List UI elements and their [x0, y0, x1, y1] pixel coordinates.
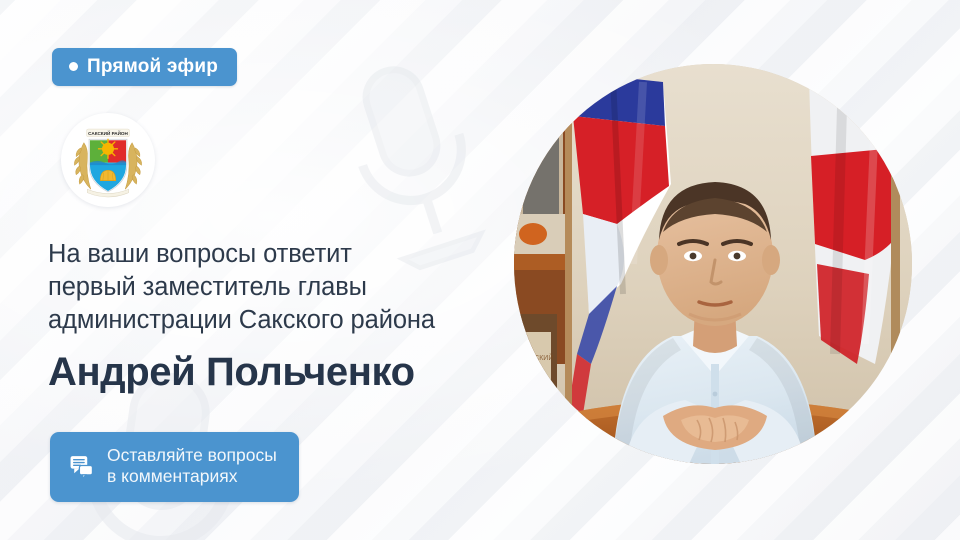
leave-questions-line-1: Оставляйте вопросы	[107, 445, 277, 466]
person-name: Андрей Польченко	[48, 350, 415, 395]
leave-questions-label: Оставляйте вопросы в комментариях	[107, 445, 277, 488]
leave-questions-button[interactable]: Оставляйте вопросы в комментариях	[50, 432, 299, 502]
chat-bubbles-icon	[69, 454, 94, 479]
live-badge[interactable]: Прямой эфир	[52, 48, 237, 86]
portrait-illustration: САКСКИЙ	[514, 64, 912, 464]
livestream-announcement-banner: Прямой эфир	[0, 0, 960, 540]
headline-line-1: На ваши вопросы ответит	[48, 238, 518, 271]
live-dot-icon	[69, 62, 78, 71]
district-emblem: САКСКИЙ РАЙОН	[61, 113, 155, 207]
speaker-portrait: САКСКИЙ	[514, 64, 912, 464]
live-badge-label: Прямой эфир	[87, 57, 218, 76]
coat-of-arms-icon: САКСКИЙ РАЙОН	[65, 117, 151, 203]
headline: На ваши вопросы ответит первый заместите…	[48, 238, 518, 337]
headline-line-2: первый заместитель главы	[48, 271, 518, 304]
headline-line-3: администрации Сакского района	[48, 304, 518, 337]
leave-questions-line-2: в комментариях	[107, 466, 277, 487]
